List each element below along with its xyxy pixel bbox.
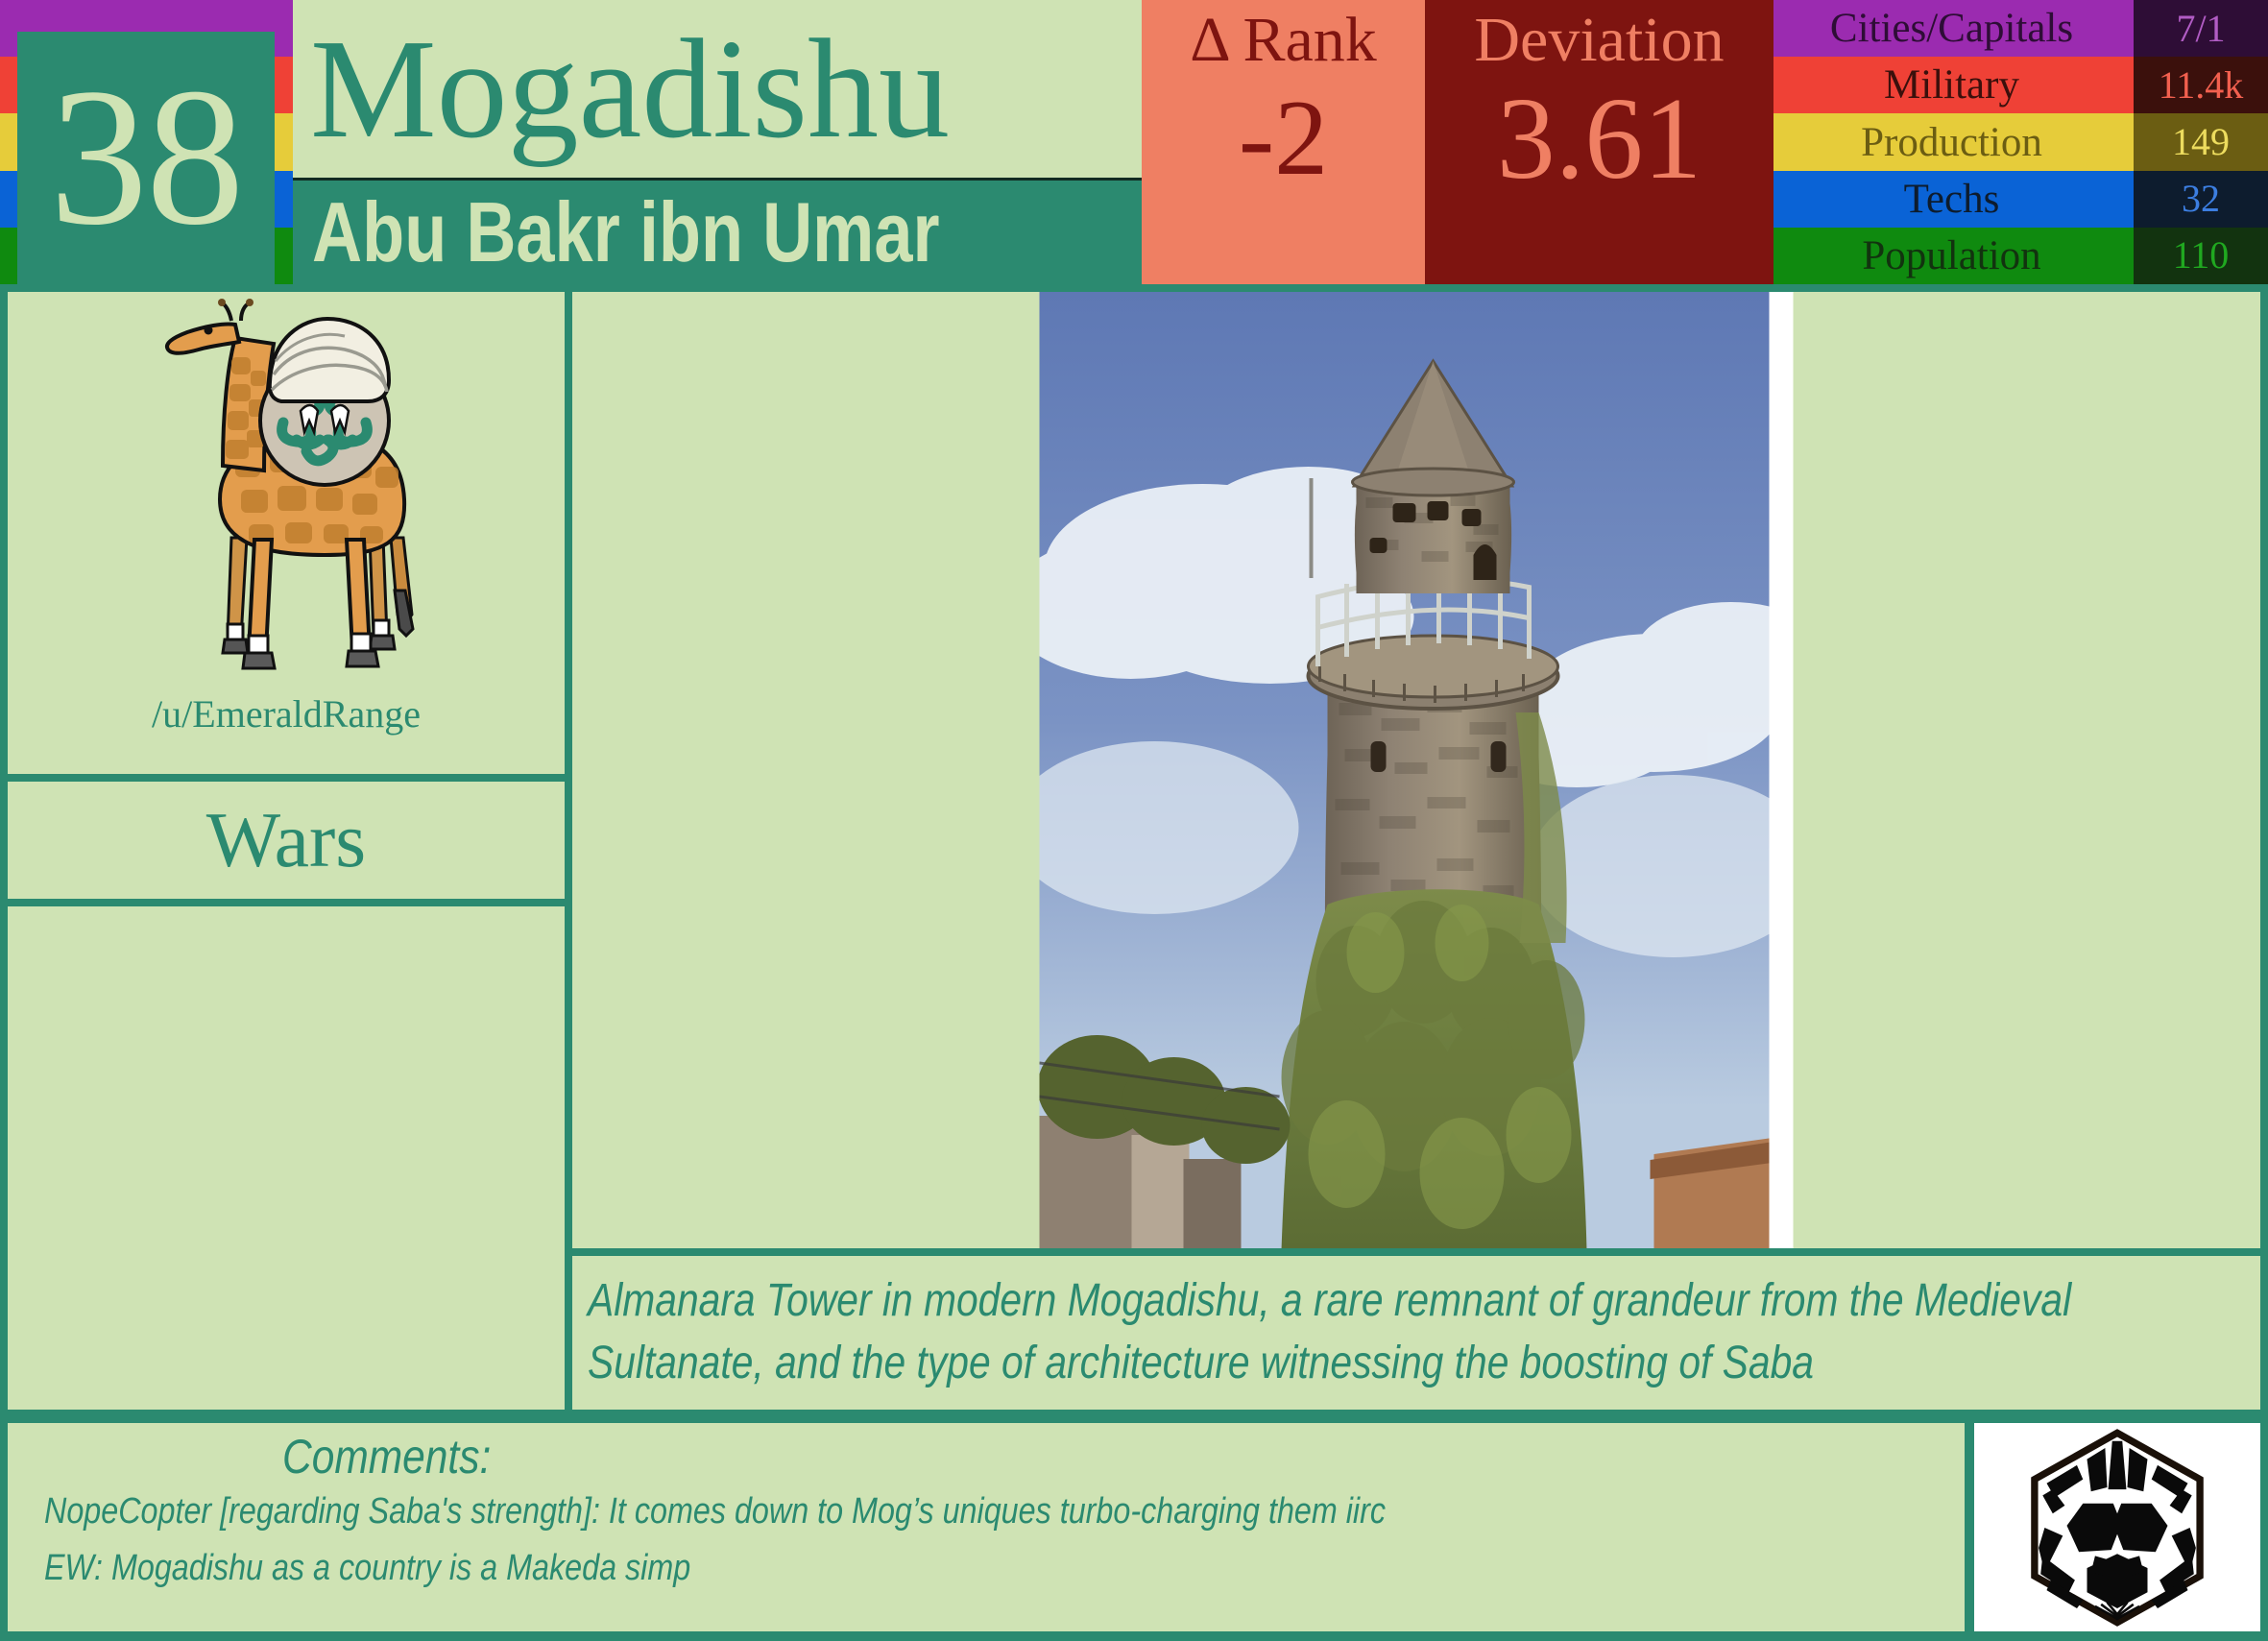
country-name: Mogadishu <box>310 18 950 160</box>
left-column: /u/EmeraldRange Wars <box>8 292 565 1410</box>
stat-row: Cities/Capitals7/1 <box>1773 0 2268 57</box>
tower-photo <box>1040 292 1794 1248</box>
comment-line: EW: Mogadishu as a country is a Makeda s… <box>44 1540 1967 1597</box>
wars-title: Wars <box>206 801 366 880</box>
leader-name: Abu Bakr ibn Umar <box>312 190 940 275</box>
rank-badge: 38 <box>17 32 275 284</box>
stat-value: 149 <box>2134 113 2268 170</box>
stat-row: Population110 <box>1773 228 2268 284</box>
stat-value: 11.4k <box>2134 57 2268 113</box>
stat-label: Population <box>1773 228 2134 284</box>
stats-table: Cities/Capitals7/1Military11.4kProductio… <box>1773 0 2268 284</box>
comments-title: Comments: <box>282 1431 1712 1484</box>
card-footer: Comments: NopeCopter [regarding Saba's s… <box>0 1417 2268 1641</box>
rank-block: 38 <box>0 0 293 284</box>
stat-value: 32 <box>2134 171 2268 228</box>
country-stat-card: 38 Mogadishu Abu Bakr ibn Umar Δ Rank -2… <box>0 0 2268 1641</box>
deviation-label: Deviation <box>1474 4 1724 77</box>
almanara-tower-illustration <box>1040 292 1794 1248</box>
comment-line: NopeCopter [regarding Saba's strength]: … <box>44 1484 1967 1540</box>
stat-label: Cities/Capitals <box>1773 0 2134 57</box>
stat-row: Techs32 <box>1773 171 2268 228</box>
photo-caption-panel: Almanara Tower in modern Mogadishu, a ra… <box>572 1256 2260 1410</box>
wars-list <box>8 906 565 1410</box>
right-column: Almanara Tower in modern Mogadishu, a ra… <box>572 292 2260 1410</box>
comments-panel: Comments: NopeCopter [regarding Saba's s… <box>8 1423 1965 1631</box>
deviation-block: Deviation 3.61 <box>1425 0 1773 284</box>
hexagon-trihex-logo-icon <box>2016 1427 2218 1629</box>
wars-header: Wars <box>8 782 565 899</box>
card-body: /u/EmeraldRange Wars <box>0 284 2268 1417</box>
stat-label: Production <box>1773 113 2134 170</box>
mascot-credit: /u/EmeraldRange <box>152 695 421 734</box>
stat-label: Techs <box>1773 171 2134 228</box>
comments-list: NopeCopter [regarding Saba's strength]: … <box>31 1484 1965 1597</box>
delta-rank-block: Δ Rank -2 <box>1142 0 1425 284</box>
photo-caption: Almanara Tower in modern Mogadishu, a ra… <box>588 1270 2235 1395</box>
delta-rank-value: -2 <box>1239 84 1328 192</box>
country-name-row: Mogadishu <box>293 0 1142 181</box>
stat-row: Production149 <box>1773 113 2268 170</box>
leader-name-row: Abu Bakr ibn Umar <box>293 181 1142 284</box>
photo-panel <box>572 292 2260 1248</box>
deviation-value: 3.61 <box>1497 81 1702 198</box>
stat-label: Military <box>1773 57 2134 113</box>
mascot-panel: /u/EmeraldRange <box>8 292 565 774</box>
stat-value: 7/1 <box>2134 0 2268 57</box>
stat-value: 110 <box>2134 228 2268 284</box>
giraffe-mascot-icon <box>128 298 445 701</box>
card-header: 38 Mogadishu Abu Bakr ibn Umar Δ Rank -2… <box>0 0 2268 284</box>
logo-panel <box>1974 1423 2260 1631</box>
name-block: Mogadishu Abu Bakr ibn Umar <box>293 0 1142 284</box>
rank-number: 38 <box>50 77 243 238</box>
stat-row: Military11.4k <box>1773 57 2268 113</box>
delta-rank-label: Δ Rank <box>1190 4 1377 77</box>
